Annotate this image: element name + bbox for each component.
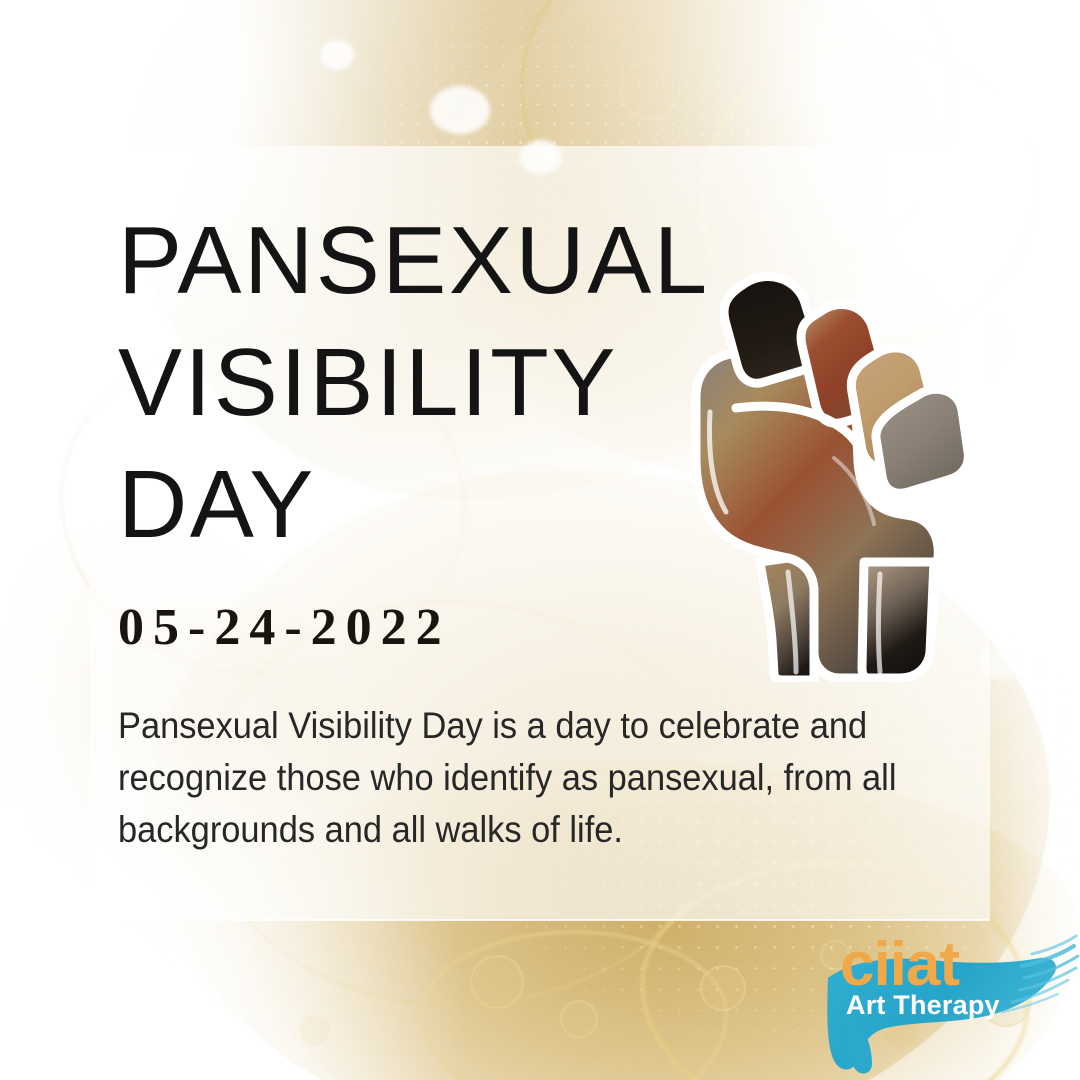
logo-tagline: Art Therapy xyxy=(846,992,1000,1019)
ink-bubble xyxy=(300,1015,330,1045)
ink-bubble xyxy=(620,60,680,120)
ink-bubble xyxy=(470,955,524,1009)
white-highlight xyxy=(430,86,490,134)
event-date: 05-24-2022 xyxy=(118,598,451,657)
ink-bubble xyxy=(560,1000,598,1038)
description-text: Pansexual Visibility Day is a day to cel… xyxy=(118,700,899,856)
white-highlight xyxy=(1000,400,1050,444)
white-highlight xyxy=(320,40,354,70)
logo-wordmark: ciiat xyxy=(840,934,959,996)
page-title: PANSEXUAL VISIBILITY DAY xyxy=(118,200,738,566)
white-highlight xyxy=(90,930,154,982)
ciiat-logo[interactable]: ciiat Art Therapy xyxy=(826,920,1080,1080)
poster-canvas: PANSEXUAL VISIBILITY DAY 05-24-2022 Pans… xyxy=(0,0,1080,1080)
ink-bubble xyxy=(880,60,914,94)
ink-cell-ring-6 xyxy=(420,930,728,1080)
ink-bubble xyxy=(700,965,746,1011)
